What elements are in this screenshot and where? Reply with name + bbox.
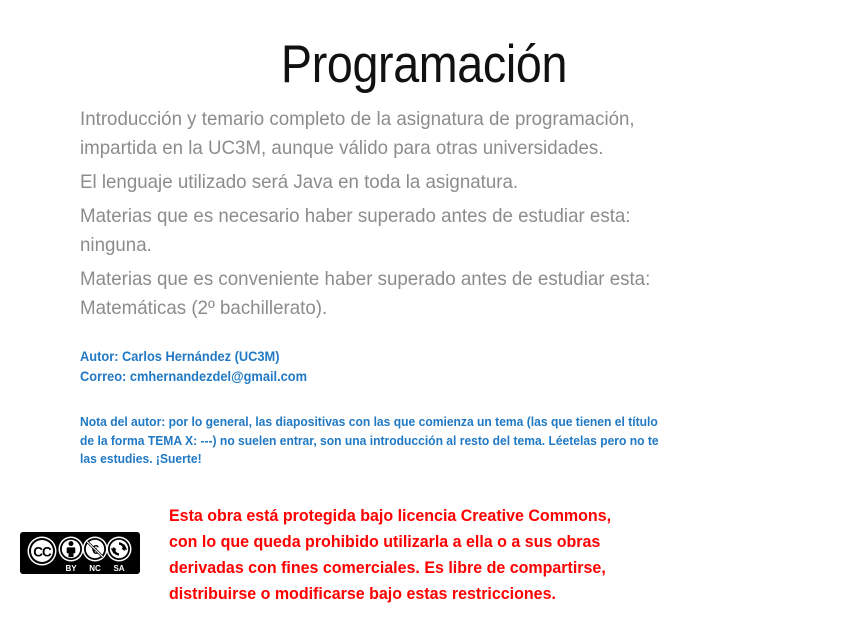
- slide-canvas: Programación Introducción y temario comp…: [0, 0, 848, 636]
- creative-commons-by-nc-sa-icon[interactable]: CC €: [20, 532, 140, 574]
- license-line-2: con lo que queda prohibido utilizarla a …: [169, 529, 693, 555]
- cc-label-nc: NC: [89, 564, 101, 573]
- author-email-line[interactable]: Correo: cmhernandezdel@gmail.com: [80, 367, 612, 387]
- page-title: Programación: [51, 36, 797, 94]
- cc-mark-icon: CC: [28, 537, 57, 566]
- body-paragraph-1: Introducción y temario completo de la as…: [80, 105, 656, 163]
- author-block: Autor: Carlos Hernández (UC3M) Correo: c…: [80, 347, 640, 387]
- cc-sa-sharealike-icon: [107, 537, 132, 562]
- body-paragraph-3: Materias que es necesario haber superado…: [80, 202, 656, 260]
- author-note-text: Nota del autor: por lo general, las diap…: [80, 413, 673, 469]
- cc-by-person-icon: [59, 537, 84, 562]
- svg-text:CC: CC: [33, 545, 52, 560]
- author-name-line: Autor: Carlos Hernández (UC3M): [80, 347, 612, 367]
- body-paragraph-4: Materias que es conveniente haber supera…: [80, 265, 656, 323]
- cc-label-by: BY: [65, 564, 77, 573]
- cc-label-sa: SA: [113, 564, 124, 573]
- body-paragraph-2: El lenguaje utilizado será Java en toda …: [80, 168, 656, 197]
- license-text-block: Esta obra está protegida bajo licencia C…: [169, 503, 709, 607]
- license-line-1: Esta obra está protegida bajo licencia C…: [169, 503, 693, 529]
- body-text-block: Introducción y temario completo de la as…: [80, 105, 680, 323]
- cc-nc-noncommercial-icon: €: [83, 537, 108, 562]
- author-note-block: Nota del autor: por lo general, las diap…: [80, 413, 698, 469]
- license-line-4: distribuirse o modificarse bajo estas re…: [169, 581, 693, 607]
- license-line-3: derivadas con fines comerciales. Es libr…: [169, 555, 693, 581]
- cc-badge-svg: CC €: [20, 532, 140, 574]
